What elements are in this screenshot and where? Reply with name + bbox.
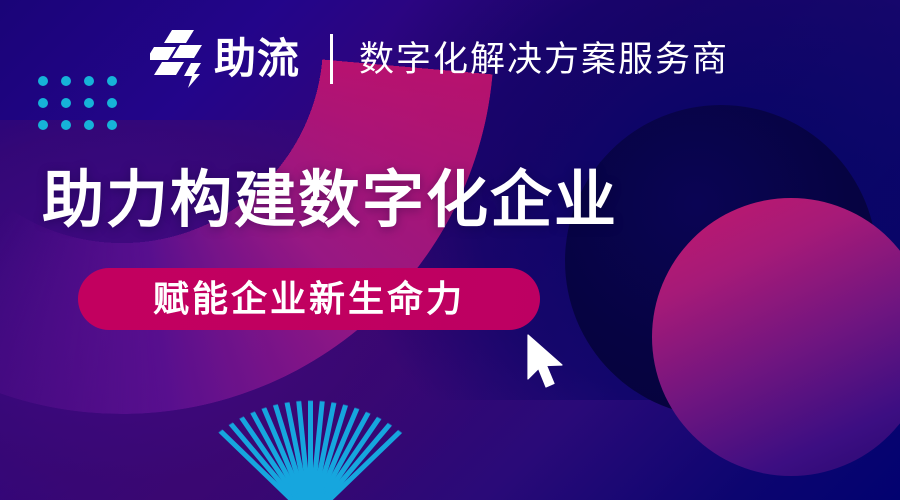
- brand-name: 助流: [214, 38, 300, 80]
- fan-line: [187, 400, 313, 500]
- grid-dot: [107, 98, 117, 108]
- mouse-pointer-icon: [525, 334, 571, 390]
- fan-line: [307, 400, 362, 500]
- grid-dot: [84, 76, 94, 86]
- fan-line: [242, 400, 313, 500]
- fan-line: [307, 400, 407, 500]
- fan-line: [307, 400, 346, 500]
- fan-line: [291, 400, 313, 500]
- grid-dot: [38, 76, 48, 86]
- fan-line: [258, 400, 313, 500]
- fan-line: [308, 400, 313, 500]
- fan-line: [307, 400, 421, 500]
- page-title: 助力构建数字化企业: [42, 168, 618, 235]
- fan-line: [274, 400, 313, 500]
- dot-grid-icon: [38, 76, 117, 130]
- brand-header: 助流 数字化解决方案服务商: [150, 26, 729, 92]
- fan-line: [307, 400, 393, 500]
- navy-circle-icon: [565, 105, 877, 417]
- fan-line: [307, 400, 378, 500]
- grid-dot: [38, 98, 48, 108]
- grid-dot: [84, 98, 94, 108]
- brand-tagline: 数字化解决方案服务商: [359, 42, 729, 77]
- fan-line: [213, 400, 313, 500]
- grid-dot: [107, 76, 117, 86]
- lightning-bolt-logo-icon: [150, 30, 206, 88]
- magenta-circle-icon: [652, 198, 900, 476]
- promo-banner: 助流 数字化解决方案服务商 助力构建数字化企业 赋能企业新生命力: [0, 0, 900, 500]
- header-divider: [330, 34, 333, 84]
- grid-dot: [38, 120, 48, 130]
- grid-dot: [61, 76, 71, 86]
- fan-line: [307, 400, 329, 500]
- grid-dot: [61, 98, 71, 108]
- fan-line: [200, 400, 314, 500]
- radial-line-fan-icon: [160, 400, 460, 500]
- status-badge-label: 赋能企业新生命力: [153, 281, 465, 317]
- fan-line: [227, 400, 313, 500]
- grid-dot: [61, 120, 71, 130]
- grid-dot: [107, 120, 117, 130]
- status-badge: 赋能企业新生命力: [78, 268, 540, 330]
- fan-line: [307, 400, 433, 500]
- grid-dot: [84, 120, 94, 130]
